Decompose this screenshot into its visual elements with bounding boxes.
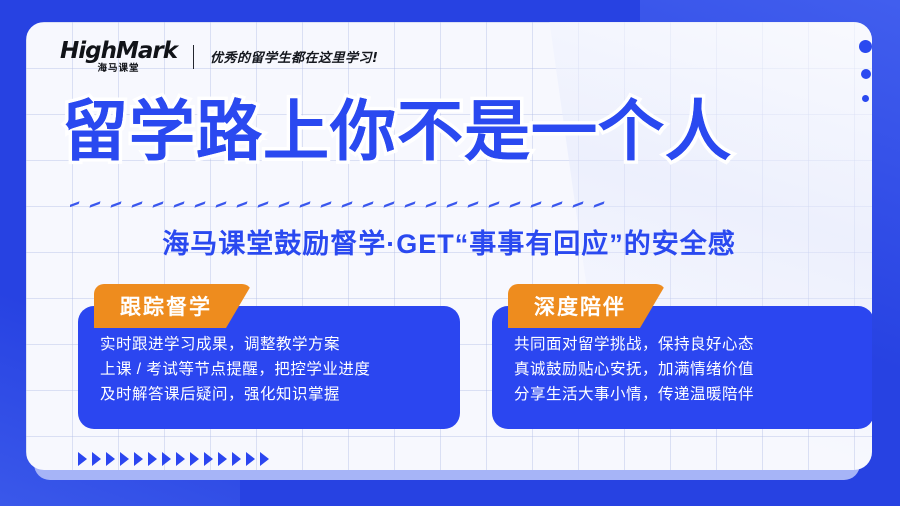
subtitle: 海马课堂鼓励督学·GET“事事有回应”的安全感 xyxy=(26,222,872,261)
slash-dash xyxy=(362,201,373,207)
slash-dash xyxy=(236,201,247,207)
slash-dash xyxy=(551,201,562,207)
dot-medium xyxy=(861,69,871,79)
logo-divider xyxy=(193,45,194,69)
feature-card: 跟踪督学 实时跟进学习成果，调整教学方案 上课 / 考试等节点提醒，把控学业进度… xyxy=(78,284,460,429)
slash-dash xyxy=(404,201,415,207)
logo-mark: HighMark 海马课堂 xyxy=(60,40,177,74)
arrow-icon xyxy=(176,452,185,466)
card-tab: 跟踪督学 xyxy=(94,284,252,328)
slash-dash xyxy=(467,201,478,207)
arrow-icon xyxy=(162,452,171,466)
arrow-icon xyxy=(92,452,101,466)
arrow-icon xyxy=(204,452,213,466)
slash-dash xyxy=(131,201,142,207)
promo-poster: HighMark 海马课堂 优秀的留学生都在这里学习! 留学路上你不是一个人 留… xyxy=(0,0,900,506)
slash-dash xyxy=(572,201,583,207)
slash-dash xyxy=(278,201,289,207)
card-tab: 深度陪伴 xyxy=(508,284,666,328)
arrow-icon xyxy=(218,452,227,466)
dot-small xyxy=(862,95,869,102)
slash-dash xyxy=(320,201,331,207)
arrow-icon xyxy=(120,452,129,466)
logo-wordmark: HighMark xyxy=(60,40,177,63)
card-line: 及时解答课后疑问，强化知识掌握 xyxy=(100,382,438,407)
slash-divider xyxy=(70,196,860,212)
logo-chinese-name: 海马课堂 xyxy=(98,64,140,74)
arrow-icon xyxy=(190,452,199,466)
slash-dash xyxy=(593,201,604,207)
brand-tagline: 优秀的留学生都在这里学习! xyxy=(210,47,378,66)
slash-dash xyxy=(110,201,121,207)
arrow-icon xyxy=(78,452,87,466)
card-line-list: 实时跟进学习成果，调整教学方案 上课 / 考试等节点提醒，把控学业进度 及时解答… xyxy=(100,332,438,407)
slash-dash xyxy=(446,201,457,207)
arrow-icon xyxy=(260,452,269,466)
arrow-icon xyxy=(148,452,157,466)
card-line: 真诚鼓励贴心安抚，加满情绪价值 xyxy=(514,357,852,382)
slash-dash xyxy=(173,201,184,207)
card-line-list: 共同面对留学挑战，保持良好心态 真诚鼓励贴心安抚，加满情绪价值 分享生活大事小情… xyxy=(514,332,852,407)
slash-dash xyxy=(530,201,541,207)
card-line: 上课 / 考试等节点提醒，把控学业进度 xyxy=(100,357,438,382)
slash-dash xyxy=(425,201,436,207)
arrow-icon xyxy=(106,452,115,466)
arrow-icon xyxy=(246,452,255,466)
dot-decoration xyxy=(859,40,872,102)
headline: 留学路上你不是一个人 xyxy=(62,98,872,164)
arrow-icon xyxy=(134,452,143,466)
card-line: 分享生活大事小情，传递温暖陪伴 xyxy=(514,382,852,407)
arrow-icon xyxy=(232,452,241,466)
slash-dash xyxy=(89,201,100,207)
slash-dash xyxy=(509,201,520,207)
content-panel: HighMark 海马课堂 优秀的留学生都在这里学习! 留学路上你不是一个人 留… xyxy=(26,22,872,470)
slash-dash xyxy=(299,201,310,207)
slash-dash xyxy=(488,201,499,207)
dot-large xyxy=(859,40,872,53)
card-line: 共同面对留学挑战，保持良好心态 xyxy=(514,332,852,357)
slash-dash xyxy=(152,201,163,207)
slash-dash xyxy=(383,201,394,207)
card-tab-label: 深度陪伴 xyxy=(534,291,626,321)
feature-card: 深度陪伴 共同面对留学挑战，保持良好心态 真诚鼓励贴心安抚，加满情绪价值 分享生… xyxy=(492,284,872,429)
slash-dash xyxy=(70,201,80,207)
slash-dash xyxy=(194,201,205,207)
card-line: 实时跟进学习成果，调整教学方案 xyxy=(100,332,438,357)
slash-dash xyxy=(215,201,226,207)
brand-logo-row: HighMark 海马课堂 优秀的留学生都在这里学习! xyxy=(60,40,378,74)
slash-dash xyxy=(257,201,268,207)
feature-cards: 跟踪督学 实时跟进学习成果，调整教学方案 上课 / 考试等节点提醒，把控学业进度… xyxy=(78,284,872,429)
card-tab-label: 跟踪督学 xyxy=(120,291,212,321)
arrow-decoration xyxy=(78,452,269,466)
slash-dash xyxy=(341,201,352,207)
